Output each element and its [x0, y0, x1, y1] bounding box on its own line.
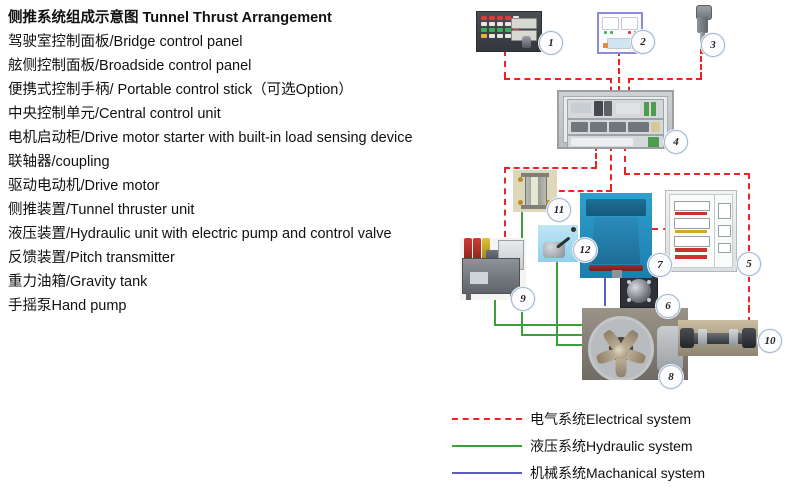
list-item-6: 联轴器/coupling	[8, 150, 458, 174]
wire-electrical-panel1-run	[504, 78, 612, 80]
starter-terminal-row	[675, 248, 707, 252]
broadside-keypad[interactable]	[607, 38, 631, 49]
pitch-transmitter-clamp-left	[698, 329, 707, 346]
coupling-bolt-1	[627, 280, 631, 284]
motor-terminal-box	[586, 199, 645, 216]
ccu-contactor-2	[590, 122, 607, 132]
starter-breaker-row1	[674, 201, 710, 211]
badge-6: 6	[656, 294, 680, 318]
list-item-11: 重力油箱/Gravity tank	[8, 270, 458, 294]
pipe-hydraulic-pump-down	[556, 262, 558, 344]
pitch-transmitter-clamp-right	[729, 329, 738, 346]
drive-motor[interactable]	[580, 193, 652, 278]
ccu-green-terminal	[648, 137, 659, 147]
badge-12: 12	[573, 238, 597, 262]
badge-11: 11	[547, 198, 571, 222]
wire-electrical-ccu-to-hyd-run	[504, 167, 597, 169]
thruster-propeller	[595, 326, 647, 378]
coupling[interactable]	[620, 274, 658, 308]
ccu-relay-bank	[616, 103, 640, 114]
legend-row-electrical: 电气系统Electrical system	[452, 405, 705, 432]
legend-row-mechanical: 机械系统Machanical system	[452, 459, 705, 486]
hand-pump-knob	[571, 227, 576, 232]
broadside-indicator-orange	[603, 43, 608, 48]
wire-electrical-ccu-out-right	[624, 145, 626, 173]
list-item-3: 便携式控制手柄/ Portable control stick（可选Option…	[8, 78, 458, 102]
legend-label-electrical: 电气系统Electrical system	[530, 409, 691, 429]
list-item-8: 侧推装置/Tunnel thruster unit	[8, 198, 458, 222]
ccu-terminal-block	[571, 103, 591, 113]
list-item-9: 液压装置/Hydraulic unit with electric pump a…	[8, 222, 458, 246]
ccu-green-module	[644, 102, 649, 116]
list-item-2: 舷侧控制面板/Broadside control panel	[8, 54, 458, 78]
starter-right-bay	[714, 194, 733, 268]
coupling-bolt-2	[647, 280, 651, 284]
wire-electrical-ccu-to-starter-run	[624, 173, 750, 175]
broadside-screen-right	[621, 17, 638, 30]
legend-row-hydraulic: 液压系统Hydraulic system	[452, 432, 705, 459]
ccu-contactor-4	[628, 122, 649, 132]
page-title: 侧推系统组成示意图 Tunnel Thrust Arrangement	[8, 6, 458, 30]
panel-display-upper	[511, 18, 537, 29]
badge-9: 9	[511, 287, 535, 311]
motor-starter-cabinet[interactable]	[665, 190, 737, 272]
ccu-enclosure	[563, 96, 668, 143]
ccu-plc-module-2	[604, 101, 612, 116]
legend-label-hydraulic: 液压系统Hydraulic system	[530, 436, 693, 456]
pipe-hydraulic-tank-run	[521, 334, 586, 336]
shaft-motor-to-coupling	[604, 278, 606, 306]
broadside-indicator-green	[604, 31, 607, 34]
broadside-indicator-red	[628, 31, 631, 34]
gravity-tank-sight-glass	[531, 177, 538, 205]
ccu-green-module-2	[651, 102, 656, 116]
badge-10: 10	[758, 329, 782, 353]
broadside-indicator-green2	[610, 31, 613, 34]
component-legend-list: 侧推系统组成示意图 Tunnel Thrust Arrangement 驾驶室控…	[8, 6, 458, 318]
pitch-transmitter-end-left	[680, 328, 694, 348]
bridge-control-panel[interactable]	[476, 11, 542, 52]
coupling-bolt-3	[627, 298, 631, 302]
central-control-unit[interactable]	[557, 90, 674, 149]
ccu-shelf-mid	[567, 119, 664, 135]
badge-8: 8	[659, 365, 683, 389]
badge-7: 7	[648, 253, 672, 277]
list-item-5: 电机启动柜/Drive motor starter with built-in …	[8, 126, 458, 150]
motor-shaft	[612, 270, 622, 278]
badge-3: 3	[701, 33, 725, 57]
pipe-hydraulic-unit-down	[494, 300, 496, 324]
motor-housing	[592, 217, 641, 264]
starter-terminal-row2	[675, 255, 707, 259]
wire-electrical-to-hydraulic-unit	[504, 167, 506, 237]
pitch-transmitter-end-right	[742, 328, 756, 348]
coupling-bolt-4	[647, 298, 651, 302]
legend-label-mechanical: 机械系统Machanical system	[530, 463, 705, 483]
hand-pump[interactable]	[538, 225, 578, 262]
ccu-transformer	[651, 122, 660, 132]
starter-indicator-row	[675, 212, 707, 215]
list-item-10: 反馈装置/Pitch transmitter	[8, 246, 458, 270]
list-item-4: 中央控制单元/Central control unit	[8, 102, 458, 126]
ccu-contactor-1	[571, 122, 588, 132]
broadside-screen-left	[602, 17, 619, 30]
starter-aux-device-2	[718, 225, 731, 237]
hydraulic-filter-red	[464, 238, 472, 260]
system-legend: 电气系统Electrical system 液压系统Hydraulic syst…	[452, 405, 705, 486]
pitch-transmitter[interactable]	[678, 320, 758, 356]
ccu-shelf-top	[567, 99, 664, 119]
ccu-terminal-strip	[571, 138, 633, 146]
list-item-7: 驱动电动机/Drive motor	[8, 174, 458, 198]
propeller-hub	[614, 345, 628, 359]
hydraulic-filter-red-2	[473, 238, 481, 260]
panel-joystick[interactable]	[522, 36, 531, 48]
list-item-1: 驾驶室控制面板/Bridge control panel	[8, 30, 458, 54]
wire-electrical-panel2-down	[618, 50, 620, 92]
stick-body	[697, 17, 708, 33]
diagram-canvas: 侧推系统组成示意图 Tunnel Thrust Arrangement 驾驶室控…	[0, 0, 788, 490]
badge-4: 4	[664, 130, 688, 154]
gravity-tank-nozzle-bottom	[518, 200, 523, 205]
wire-electrical-panel1-down	[504, 50, 506, 78]
wire-electrical-panel3-run	[628, 78, 702, 80]
hydraulic-leg-left	[466, 293, 471, 300]
starter-aux-device	[718, 203, 731, 219]
starter-breaker-row2	[674, 218, 710, 229]
badge-2: 2	[631, 30, 655, 54]
starter-breaker-row3	[674, 236, 710, 247]
starter-fuse-row	[675, 230, 707, 233]
badge-5: 5	[737, 252, 761, 276]
ccu-contactor-3	[609, 122, 626, 132]
gravity-tank-nozzle-top	[518, 177, 523, 182]
starter-aux-device-3	[718, 243, 731, 253]
list-item-12: 手摇泵Hand pump	[8, 294, 458, 318]
wire-electrical-ccu-out-mid	[610, 145, 612, 190]
starter-left-bay	[669, 194, 715, 268]
badge-1: 1	[539, 31, 563, 55]
gravity-tank-flange-top	[521, 173, 549, 177]
ccu-shelf-bottom	[567, 135, 664, 149]
pipe-hydraulic-unit-run	[494, 324, 586, 326]
wire-electrical-starter-drop	[748, 173, 750, 323]
gravity-tank-flange-bottom	[521, 205, 549, 209]
ccu-plc-module	[594, 101, 603, 116]
hydraulic-nameplate	[470, 272, 488, 284]
